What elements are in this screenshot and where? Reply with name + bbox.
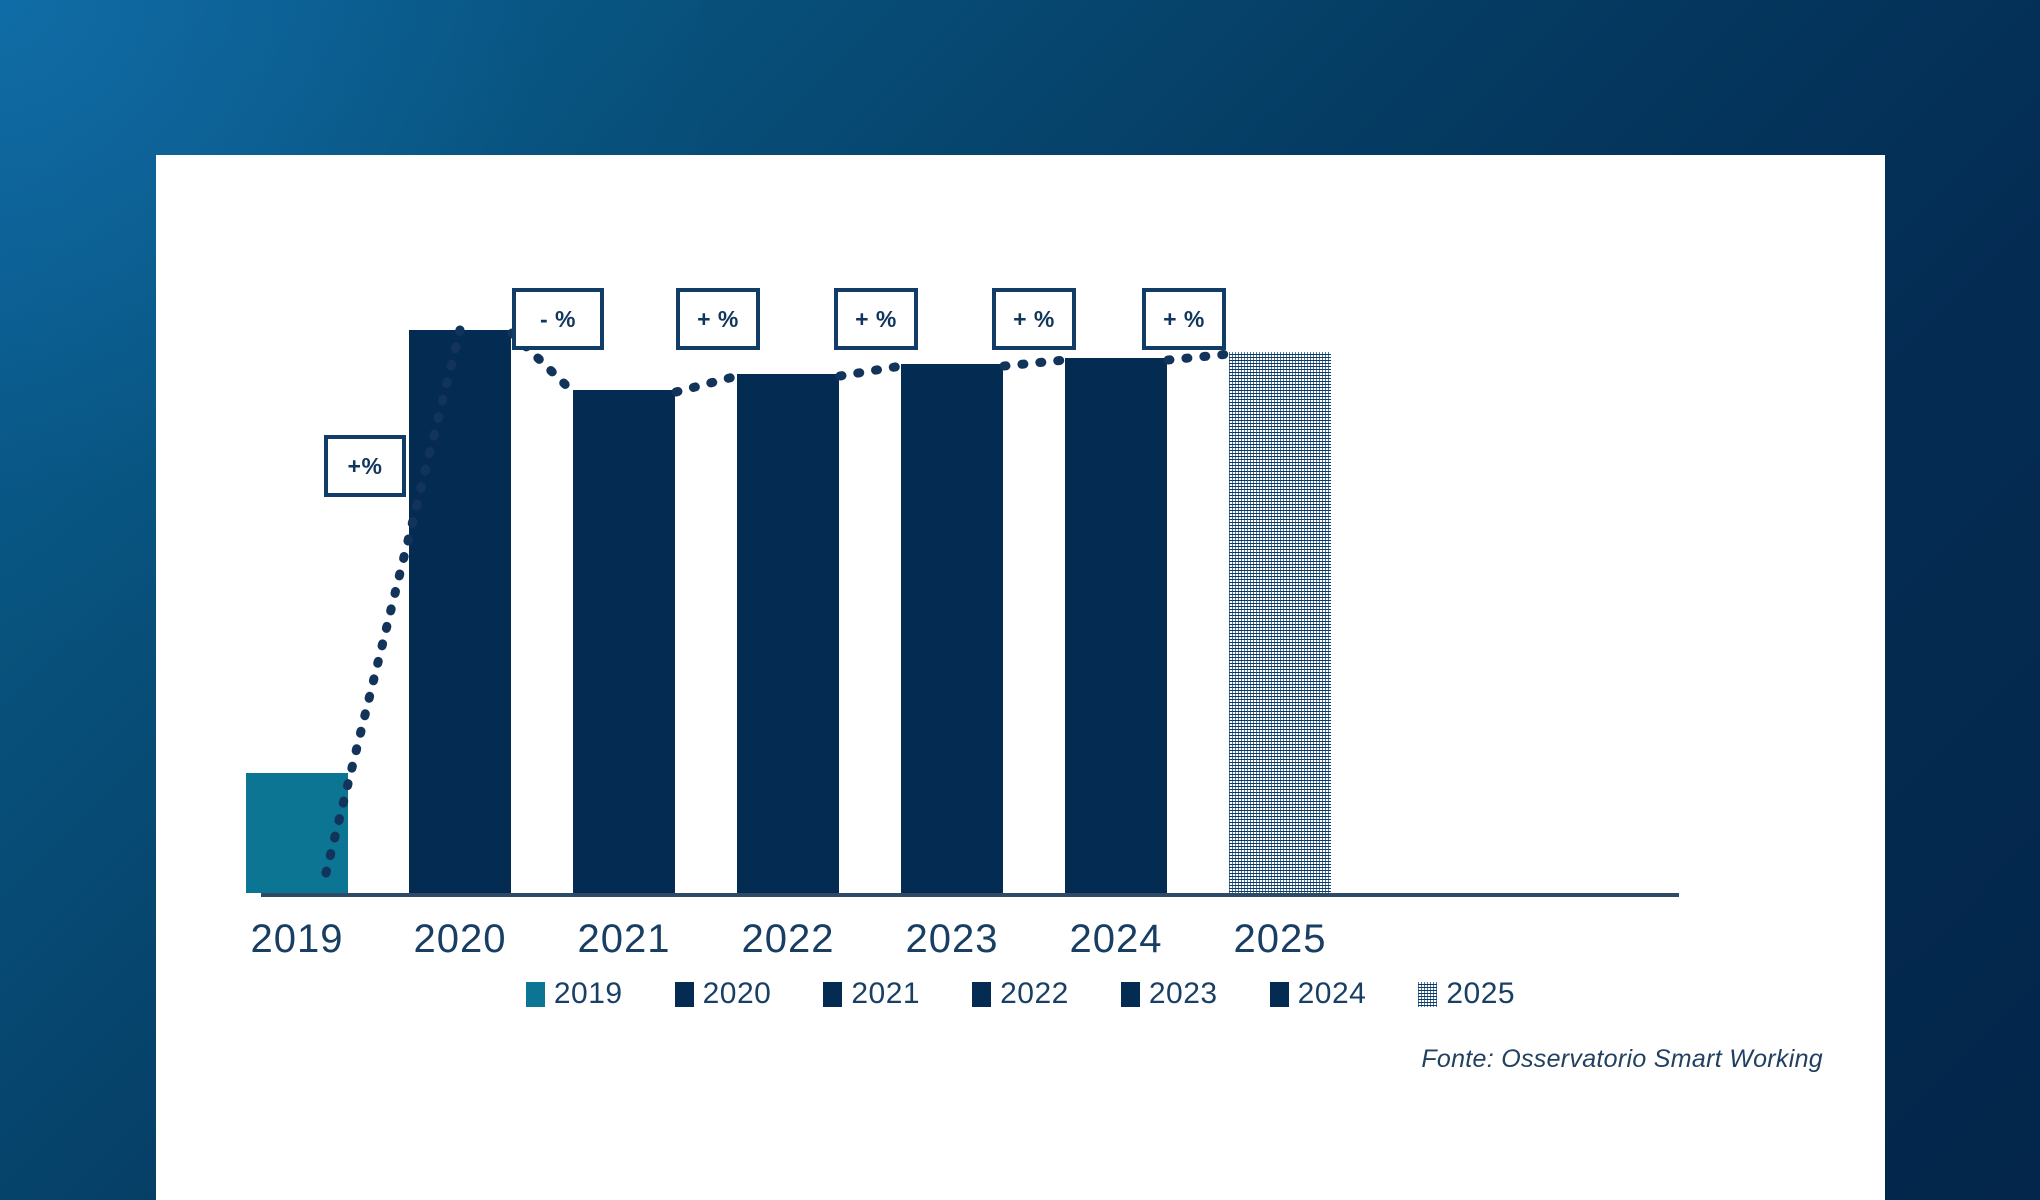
- x-label-2019: 2019: [202, 917, 392, 962]
- legend-swatch-icon: [1270, 982, 1289, 1007]
- callout-label: + %: [855, 306, 897, 333]
- legend-item-label: 2020: [703, 977, 772, 1011]
- legend-item-label: 2022: [1000, 977, 1069, 1011]
- source-note: Fonte: Osservatorio Smart Working: [1421, 1045, 1823, 1074]
- callout-label: + %: [1163, 306, 1205, 333]
- legend-item-label: 2024: [1298, 977, 1367, 1011]
- x-label-2021: 2021: [529, 917, 719, 962]
- x-label-2022: 2022: [693, 917, 883, 962]
- legend-item-label: 2019: [554, 977, 623, 1011]
- chart-legend: 2019 2020 2021 2022 2023: [156, 977, 1885, 1011]
- callout-2023-2024[interactable]: + %: [992, 288, 1076, 350]
- legend-item-label: 2021: [851, 977, 920, 1011]
- legend-item-2024[interactable]: 2024: [1270, 977, 1367, 1011]
- legend-item-2020[interactable]: 2020: [675, 977, 772, 1011]
- legend-item-2022[interactable]: 2022: [972, 977, 1069, 1011]
- x-label-2024: 2024: [1021, 917, 1211, 962]
- callout-label: + %: [1013, 306, 1055, 333]
- x-label-2023: 2023: [857, 917, 1047, 962]
- bar-2019[interactable]: [246, 773, 348, 893]
- bar-2025-forecast[interactable]: [1229, 352, 1331, 893]
- legend-swatch-icon: [823, 982, 842, 1007]
- legend-item-2025[interactable]: 2025: [1418, 977, 1515, 1011]
- callout-2020-2021[interactable]: - %: [512, 288, 604, 350]
- callout-label: +%: [348, 453, 383, 480]
- bar-2022[interactable]: [737, 374, 839, 893]
- callout-2024-2025[interactable]: + %: [1142, 288, 1226, 350]
- legend-swatch-icon: [972, 982, 991, 1007]
- x-label-2020: 2020: [365, 917, 555, 962]
- legend-item-label: 2025: [1446, 977, 1515, 1011]
- legend-item-2021[interactable]: 2021: [823, 977, 920, 1011]
- callout-2022-2023[interactable]: + %: [834, 288, 918, 350]
- legend-swatch-icon: [526, 982, 545, 1007]
- legend-swatch-icon: [675, 982, 694, 1007]
- callout-2021-2022[interactable]: + %: [676, 288, 760, 350]
- bar-2020[interactable]: [409, 330, 511, 893]
- chart-plot-area: +% - % + % + % + % + % 2019 2020 2021: [156, 155, 1885, 1200]
- callout-2019-2020[interactable]: +%: [324, 435, 406, 497]
- callout-label: + %: [697, 306, 739, 333]
- x-axis-line: [261, 893, 1679, 897]
- slide-background: +% - % + % + % + % + % 2019 2020 2021: [0, 0, 2040, 1200]
- bar-2021[interactable]: [573, 390, 675, 893]
- bar-2023[interactable]: [901, 364, 1003, 893]
- chart-card: +% - % + % + % + % + % 2019 2020 2021: [156, 155, 1885, 1200]
- legend-item-2023[interactable]: 2023: [1121, 977, 1218, 1011]
- x-label-2025: 2025: [1185, 917, 1375, 962]
- legend-swatch-icon: [1121, 982, 1140, 1007]
- legend-swatch-icon: [1418, 982, 1437, 1007]
- callout-label: - %: [540, 306, 576, 333]
- legend-item-label: 2023: [1149, 977, 1218, 1011]
- bar-2024[interactable]: [1065, 358, 1167, 893]
- legend-item-2019[interactable]: 2019: [526, 977, 623, 1011]
